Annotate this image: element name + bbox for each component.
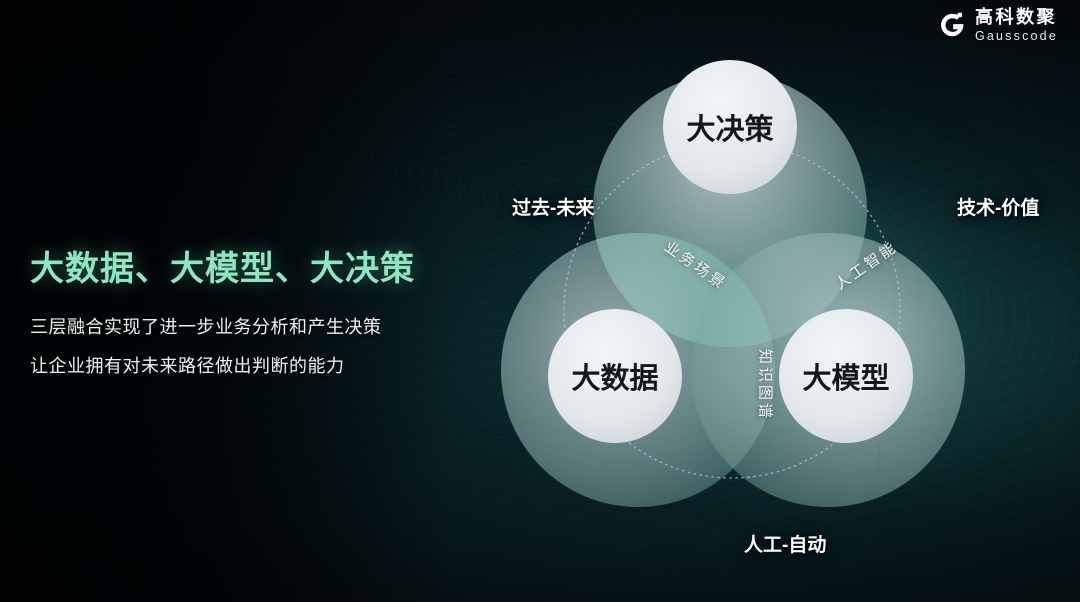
venn-caption-manual-auto: 人工-自动 [744,530,826,557]
venn-caption-tech-value: 技术-价值 [957,193,1039,220]
logo-name-en: Gausscode [975,30,1058,43]
venn-label-decision: 大决策 [686,106,773,148]
venn-diagram: 大决策 大数据 大模型 业务场景 人工智能 知识图谱 [498,10,1018,550]
venn-diagram-graphic [498,10,1018,550]
logo-name-cn: 高科数聚 [975,8,1058,26]
venn-label-bigdata: 大数据 [571,355,658,397]
venn-label-model: 大模型 [802,355,889,397]
headline-block: 大数据、大模型、大决策 三层融合实现了进一步业务分析和产生决策 让企业拥有对未来… [30,248,490,386]
subtitle-line-2: 让企业拥有对未来路径做出判断的能力 [30,348,490,386]
gausscode-logo-mark-icon [938,11,966,39]
slide-canvas: 高科数聚 Gausscode 大数据、大模型、大决策 三层融合实现了进一步业务分… [0,0,1080,602]
venn-intersection-label-knowledge-graph: 知识图谱 [756,349,777,421]
venn-caption-past-future: 过去-未来 [512,193,594,220]
logo-wordmark: 高科数聚 Gausscode [975,8,1058,43]
brand-logo: 高科数聚 Gausscode [938,8,1058,43]
subtitle-line-1: 三层融合实现了进一步业务分析和产生决策 [30,309,490,347]
page-title: 大数据、大模型、大决策 [30,248,490,291]
